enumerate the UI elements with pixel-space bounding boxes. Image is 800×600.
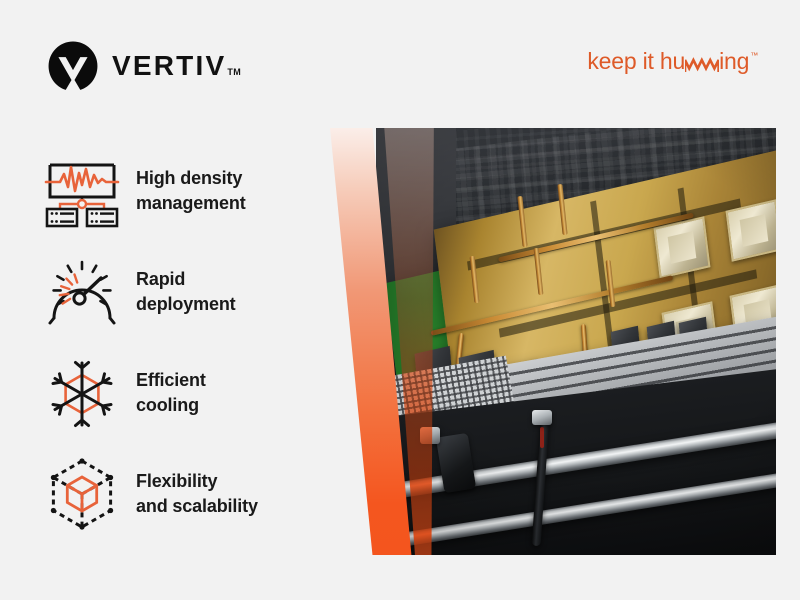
feature-label: Rapid deployment: [136, 267, 236, 316]
vertiv-logo[interactable]: VERTIVTM: [47, 40, 241, 92]
slide-root: VERTIVTM keep it hu ing ™: [0, 0, 800, 600]
tagline-trademark: ™: [750, 52, 758, 60]
tagline-text-post: ing: [719, 50, 749, 73]
feature-item-flexibility-and-scalability[interactable]: Flexibility and scalability: [44, 443, 324, 544]
dashed-cube-hexagon-icon: [44, 456, 120, 532]
feature-label: Efficient cooling: [136, 368, 206, 417]
feature-item-high-density-management[interactable]: High density management: [44, 140, 324, 241]
snowflake-hexagon-icon: [44, 355, 120, 431]
speedometer-gauge-icon: [44, 254, 120, 330]
vertiv-wordmark: VERTIV: [112, 50, 226, 81]
tagline-wave-icon: [685, 50, 719, 73]
feature-label: High density management: [136, 166, 246, 215]
trademark-symbol: TM: [227, 67, 241, 77]
feature-item-efficient-cooling[interactable]: Efficient cooling: [44, 342, 324, 443]
high-density-monitor-waveform-icon: [44, 153, 120, 229]
tagline-text-pre: keep it hu: [587, 50, 685, 73]
hero-image-artwork: [376, 128, 776, 555]
vertiv-v-mark-icon: [47, 40, 99, 92]
vertiv-wordmark-group: VERTIVTM: [112, 52, 241, 80]
tagline: keep it hu ing ™: [587, 50, 758, 73]
feature-label: Flexibility and scalability: [136, 469, 258, 518]
hero-image-liquid-cooled-server: [376, 128, 776, 555]
feature-item-rapid-deployment[interactable]: Rapid deployment: [44, 241, 324, 342]
feature-list: High density management: [44, 140, 324, 544]
